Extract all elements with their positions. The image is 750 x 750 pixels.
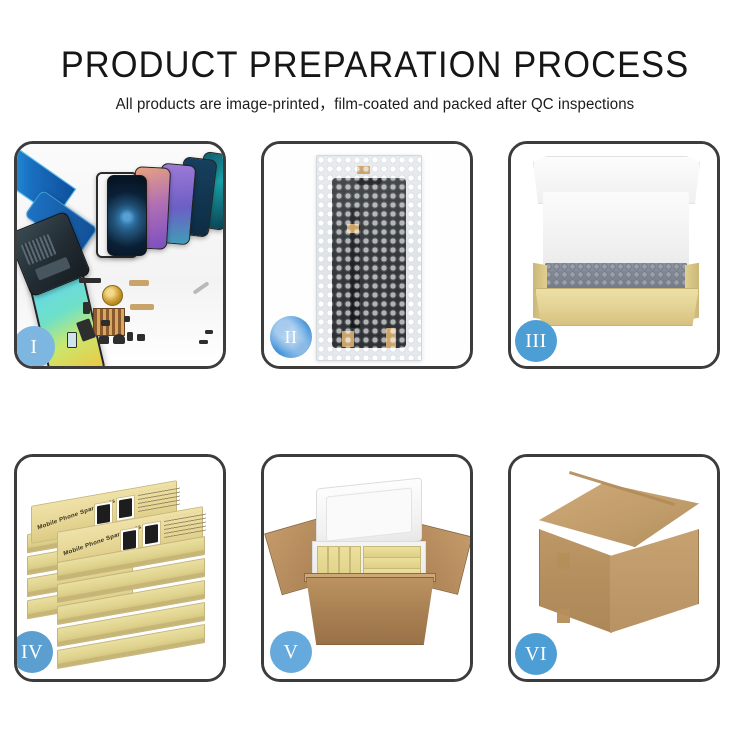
small-part-8 [67, 332, 77, 348]
box-stack: Mobile Phone Spare Parts Mobile Phone Sp… [23, 479, 223, 665]
small-part-4 [127, 332, 133, 341]
scene-foam-lined-inner-box: III [511, 144, 717, 366]
scene-bubble-wrapped-screen: II [264, 144, 470, 366]
flex-cable-1 [129, 280, 149, 286]
small-part-1 [83, 302, 90, 314]
small-part-6 [101, 320, 110, 326]
scene-stacked-retail-boxes: Mobile Phone Spare Parts Mobile Phone Sp… [17, 457, 223, 679]
carton-left-face [539, 529, 612, 633]
tweezers [192, 281, 209, 295]
product-preparation-process-infographic: PRODUCT PREPARATION PROCESS All products… [0, 0, 750, 750]
step-badge-3: III [515, 320, 557, 362]
gold-coil-part [102, 285, 123, 306]
process-step-3: III [508, 141, 720, 369]
header: PRODUCT PREPARATION PROCESS All products… [0, 0, 750, 114]
box-front-panel [535, 288, 699, 326]
flex-cable-2 [130, 304, 154, 310]
screw-1 [199, 340, 208, 344]
step-badge-1: I [17, 326, 55, 366]
small-part-5 [137, 334, 145, 341]
tape-top [357, 166, 370, 174]
process-step-4: Mobile Phone Spare Parts Mobile Phone Sp… [14, 454, 226, 682]
scene-sealed-shipping-carton: VI [511, 457, 717, 679]
small-part-3 [99, 336, 109, 344]
step-badge-4: IV [17, 631, 53, 673]
carton-front-panel [306, 577, 434, 645]
carton-tape-upper [557, 553, 570, 569]
process-step-1: I [14, 141, 226, 369]
process-step-2: II [261, 141, 473, 369]
page-subtitle: All products are image-printed，film-coat… [11, 85, 739, 114]
white-foam-sheet [543, 192, 689, 266]
tape-middle [347, 224, 359, 233]
lcd-screen-inside [332, 178, 406, 348]
step-badge-5: V [270, 631, 312, 673]
carton-tape-lower [557, 609, 570, 623]
scene-carton-with-foam-lid: V [264, 457, 470, 679]
carton-right-face [610, 529, 699, 633]
step-badge-6: VI [515, 633, 557, 675]
process-step-5: V [261, 454, 473, 682]
process-step-6: VI [508, 454, 720, 682]
screw-2 [205, 330, 213, 334]
speaker-part [113, 334, 125, 344]
process-steps-grid: I II [14, 141, 736, 693]
small-part-7 [124, 316, 130, 322]
tape-bottom-left [342, 331, 354, 347]
bubble-wrap-bag [316, 155, 422, 361]
earpiece-part [79, 278, 101, 283]
tape-bottom-right [386, 328, 396, 348]
page-title: PRODUCT PREPARATION PROCESS [26, 0, 724, 85]
step-badge-2: II [270, 316, 312, 358]
scene-phone-parts-layout: I [17, 144, 223, 366]
step-badge-2-label: II [285, 327, 298, 348]
phone-blue-ripple [107, 175, 147, 256]
